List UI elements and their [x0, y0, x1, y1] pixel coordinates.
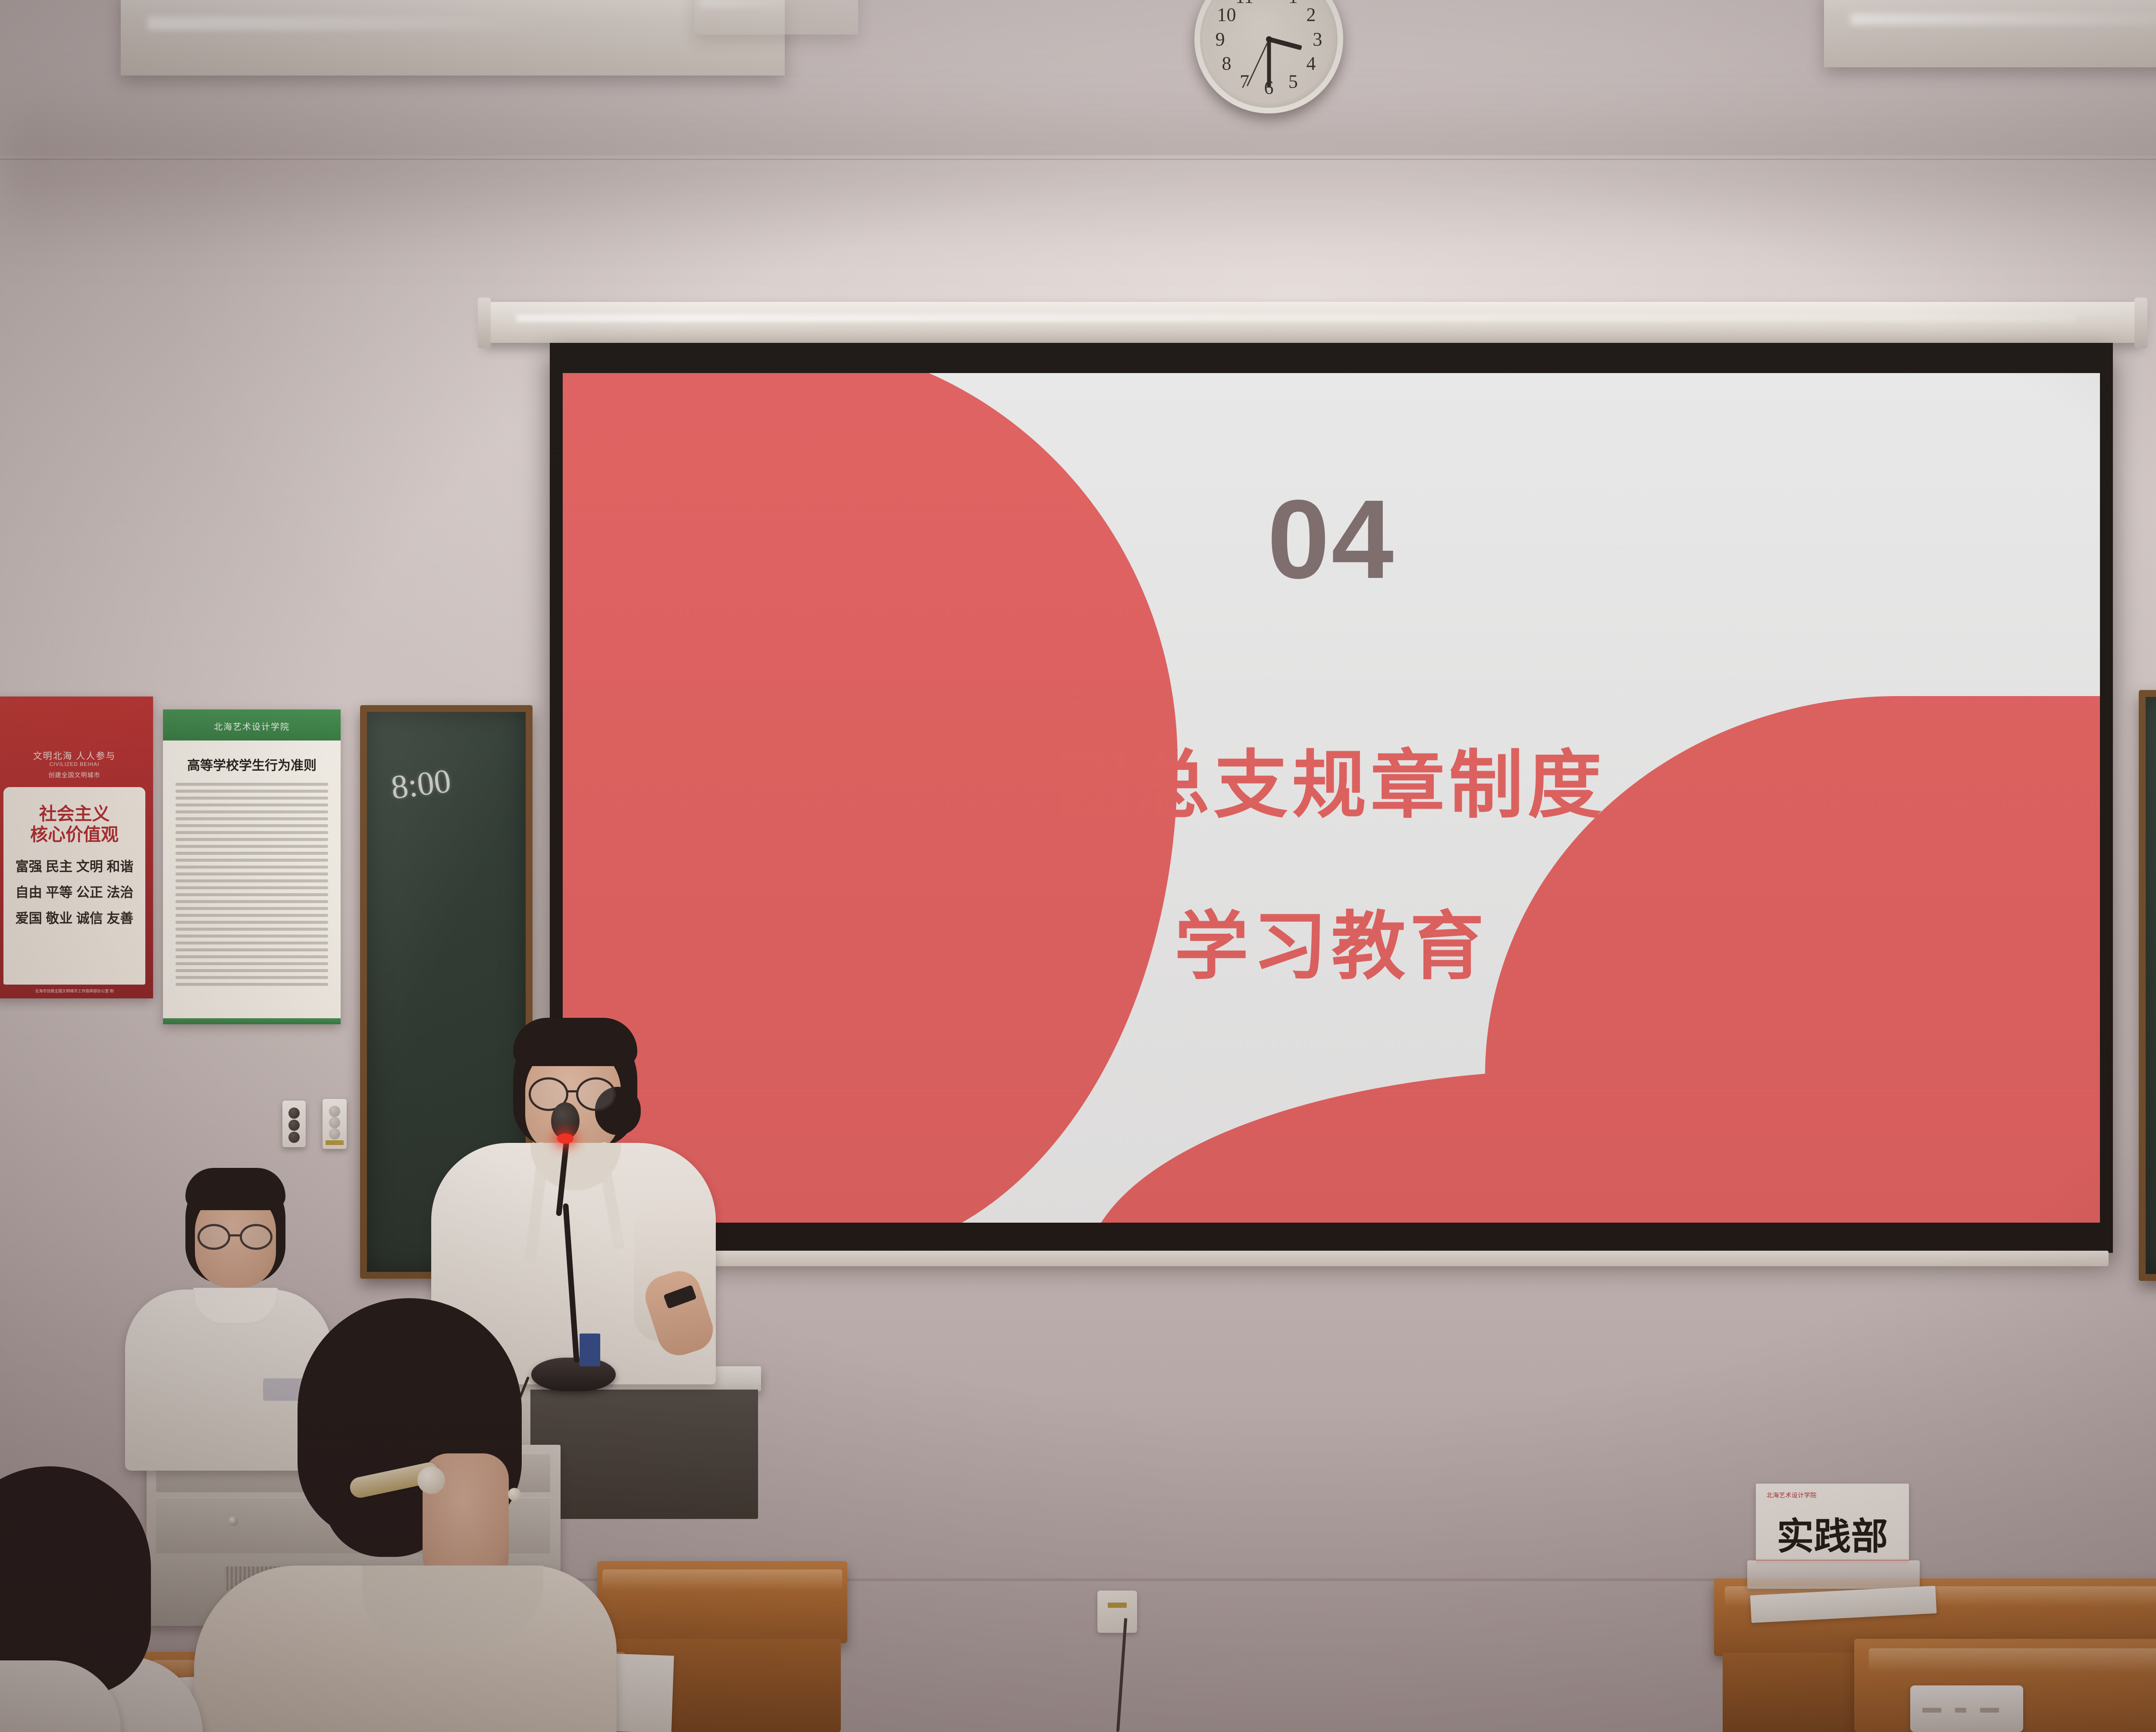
- slide-section-number: 04: [563, 483, 2100, 596]
- projection-screen-frame: 04 团总支规章制度 学习教育: [550, 343, 2113, 1253]
- foreground-bun-hair-clip-pearl: [417, 1466, 445, 1494]
- screen-housing-end-left: [478, 298, 491, 348]
- speaker-glasses-right-lens: [576, 1077, 616, 1111]
- clock-numeral: 11: [1235, 0, 1253, 8]
- microphone-label-sticker: [580, 1334, 600, 1366]
- switch-label-tag: [326, 1140, 344, 1145]
- clock-numeral: 1: [1288, 0, 1298, 8]
- power-bank[interactable]: [1910, 1685, 2023, 1732]
- clock-numeral: 4: [1307, 52, 1316, 74]
- poster-campaign-text: 创建全国文明城市: [0, 771, 153, 779]
- poster-green-footer-band: [163, 1018, 341, 1024]
- switch-button[interactable]: [329, 1128, 340, 1139]
- ceiling-light-right: [1824, 0, 2156, 67]
- projection-screen-housing[interactable]: [483, 302, 2143, 343]
- switch-button[interactable]: [288, 1120, 300, 1131]
- clock-numeral: 12: [1260, 0, 1279, 1]
- projected-slide: 04 团总支规章制度 学习教育: [563, 373, 2100, 1223]
- seated-left-glasses-left-lens: [197, 1224, 230, 1250]
- clock-numeral: 9: [1216, 28, 1225, 50]
- wall-outlet[interactable]: [1097, 1591, 1137, 1633]
- switch-button[interactable]: [288, 1108, 300, 1119]
- poster-student-code-of-conduct: 北海艺术设计学院 高等学校学生行为准则: [163, 709, 341, 1024]
- clock-numeral: 5: [1288, 70, 1298, 92]
- chalkboard-time-note: 8:00: [389, 761, 453, 807]
- poster-title-line-2: 核心价值观: [0, 824, 153, 845]
- clock-numeral: 3: [1313, 28, 1322, 50]
- bench-highlight: [602, 1569, 843, 1591]
- clock-numeral: 10: [1217, 4, 1236, 26]
- switch-button[interactable]: [329, 1106, 340, 1117]
- screen-bottom-weight-bar: [556, 1251, 2109, 1266]
- poster-logo-text: 文明北海 人人参与: [0, 749, 153, 762]
- switch-button[interactable]: [288, 1132, 300, 1143]
- poster-logo-subtext: CIVILIZED BEIHAI: [0, 761, 153, 767]
- microphone-base[interactable]: [531, 1358, 616, 1391]
- slide-heading-line-2: 学习教育: [563, 908, 2100, 985]
- light-switch-panel-left[interactable]: [282, 1101, 306, 1147]
- power-bank-usb-port: [1922, 1708, 1941, 1713]
- clock-minute-hand: [1267, 39, 1271, 88]
- power-bank-usb-port-2: [1980, 1708, 1999, 1713]
- clock-center-pin: [1266, 36, 1272, 42]
- poster-conduct-title: 高等学校学生行为准则: [163, 755, 341, 774]
- nameplate-practice-department: 北海艺术设计学院 实践部: [1756, 1484, 1909, 1563]
- bench-left-front: [597, 1561, 847, 1643]
- screen-housing-end-right: [2134, 298, 2147, 348]
- ceiling-light-left: [121, 0, 785, 75]
- nameplate-label: 实践部: [1756, 1506, 1909, 1560]
- slide-blob-right-lower: [1085, 1070, 2100, 1223]
- blackboard-right: [2139, 690, 2156, 1281]
- poster-core-socialist-values: 文明北海 人人参与 CIVILIZED BEIHAI 创建全国文明城市 社会主义…: [0, 697, 153, 998]
- clock-numeral: 7: [1240, 70, 1249, 92]
- seated-left-hair-front: [185, 1168, 285, 1210]
- foreground-bun-blazer-collar: [362, 1566, 543, 1643]
- ceiling-light-center: [694, 0, 858, 35]
- clock-hour-hand: [1268, 37, 1302, 50]
- clock-numeral: 2: [1307, 4, 1316, 26]
- poster-values-row-2: 自由 平等 公正 法治: [0, 883, 153, 903]
- foreground-bun-earring: [508, 1488, 521, 1501]
- power-bank-usb-c-port: [1955, 1708, 1966, 1713]
- microphone-status-led: [557, 1133, 573, 1144]
- bench-highlight: [1869, 1648, 2156, 1672]
- nameplate-acrylic-stand: [1747, 1560, 1920, 1589]
- poster-footer-text: 北海市创建全国文明城市工作指挥部办公室 制: [0, 988, 153, 994]
- poster-title-line-1: 社会主义: [0, 803, 153, 824]
- light-switch-panel-right[interactable]: [323, 1099, 347, 1149]
- seated-left-glasses-right-lens: [240, 1224, 273, 1250]
- poster-values-row-3: 爱国 敬业 诚信 友善: [0, 909, 153, 929]
- poster-values-row-1: 富强 民主 文明 和谐: [0, 857, 153, 877]
- poster-body-text-lines: [175, 783, 328, 990]
- speaker-glasses-bridge: [567, 1090, 578, 1092]
- switch-button[interactable]: [329, 1117, 340, 1128]
- speaker-hair-front: [513, 1018, 637, 1066]
- clock-numeral: 8: [1222, 52, 1231, 74]
- seated-left-glasses-bridge: [229, 1234, 241, 1236]
- desk-drawer-knob[interactable]: [229, 1516, 238, 1526]
- wall-shadow: [0, 78, 2156, 263]
- outlet-socket-slot: [1108, 1603, 1127, 1608]
- poster-school-name: 北海艺术设计学院: [163, 720, 341, 732]
- nameplate-school-logo: 北海艺术设计学院: [1767, 1491, 1817, 1500]
- classroom-photo: 12 1 2 3 4 5 6 7 8 9 10 11: [0, 0, 2156, 1732]
- wall-seam-upper: [0, 159, 2156, 160]
- clock-face: 12 1 2 3 4 5 6 7 8 9 10 11: [1205, 0, 1333, 103]
- slide-heading-line-1: 团总支规章制度: [563, 747, 2100, 824]
